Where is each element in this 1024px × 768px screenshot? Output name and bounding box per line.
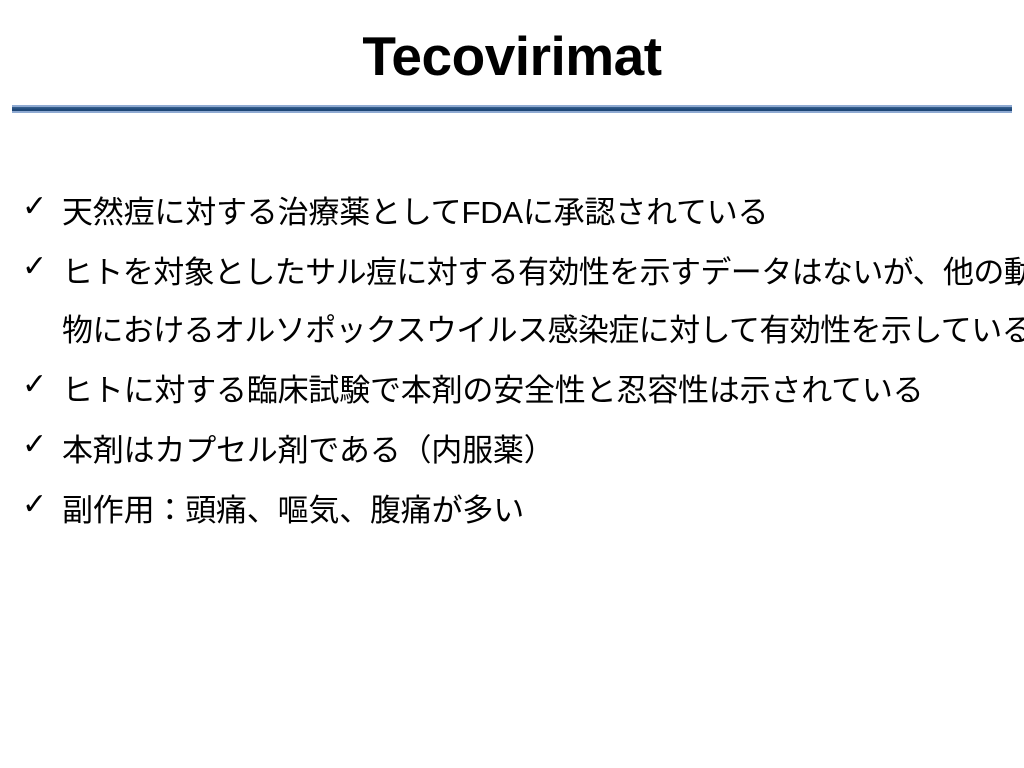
list-item-text: ヒトに対する臨床試験で本剤の安全性と忍容性は示されている <box>62 362 1024 420</box>
page-title: Tecovirimat <box>362 24 661 88</box>
check-icon: ✓ <box>22 184 52 229</box>
list-item: ✓ 本剤はカプセル剤である（内服薬） <box>0 422 1024 480</box>
title-divider <box>12 105 1012 113</box>
check-icon: ✓ <box>22 362 52 407</box>
list-item: ✓ 天然痘に対する治療薬としてFDAに承認されている <box>0 184 1024 242</box>
list-item: ✓ 副作用：頭痛、嘔気、腹痛が多い <box>0 482 1024 540</box>
title-divider-inner <box>12 107 1012 111</box>
slide-canvas: Tecovirimat ✓ 天然痘に対する治療薬としてFDAに承認されている ✓… <box>0 0 1024 768</box>
list-item-text: 副作用：頭痛、嘔気、腹痛が多い <box>62 482 1024 540</box>
list-item-text-continued: 物におけるオルソポックスウイルス感染症に対して有効性を示しているヒ <box>62 302 1024 360</box>
list-item-text: 天然痘に対する治療薬としてFDAに承認されている <box>62 184 1024 242</box>
check-icon: ✓ <box>22 244 52 289</box>
list-item: ✓ ヒトに対する臨床試験で本剤の安全性と忍容性は示されている <box>0 362 1024 420</box>
list-item-text: 本剤はカプセル剤である（内服薬） <box>62 422 1024 480</box>
list-item: ✓ ヒトを対象としたサル痘に対する有効性を示すデータはないが、他の動 物における… <box>0 244 1024 360</box>
check-icon: ✓ <box>22 482 52 527</box>
list-item-text: ヒトを対象としたサル痘に対する有効性を示すデータはないが、他の動 <box>62 244 1024 302</box>
title-block: Tecovirimat <box>0 24 1024 88</box>
bullet-list: ✓ 天然痘に対する治療薬としてFDAに承認されている ✓ ヒトを対象としたサル痘… <box>0 184 1024 542</box>
check-icon: ✓ <box>22 422 52 467</box>
